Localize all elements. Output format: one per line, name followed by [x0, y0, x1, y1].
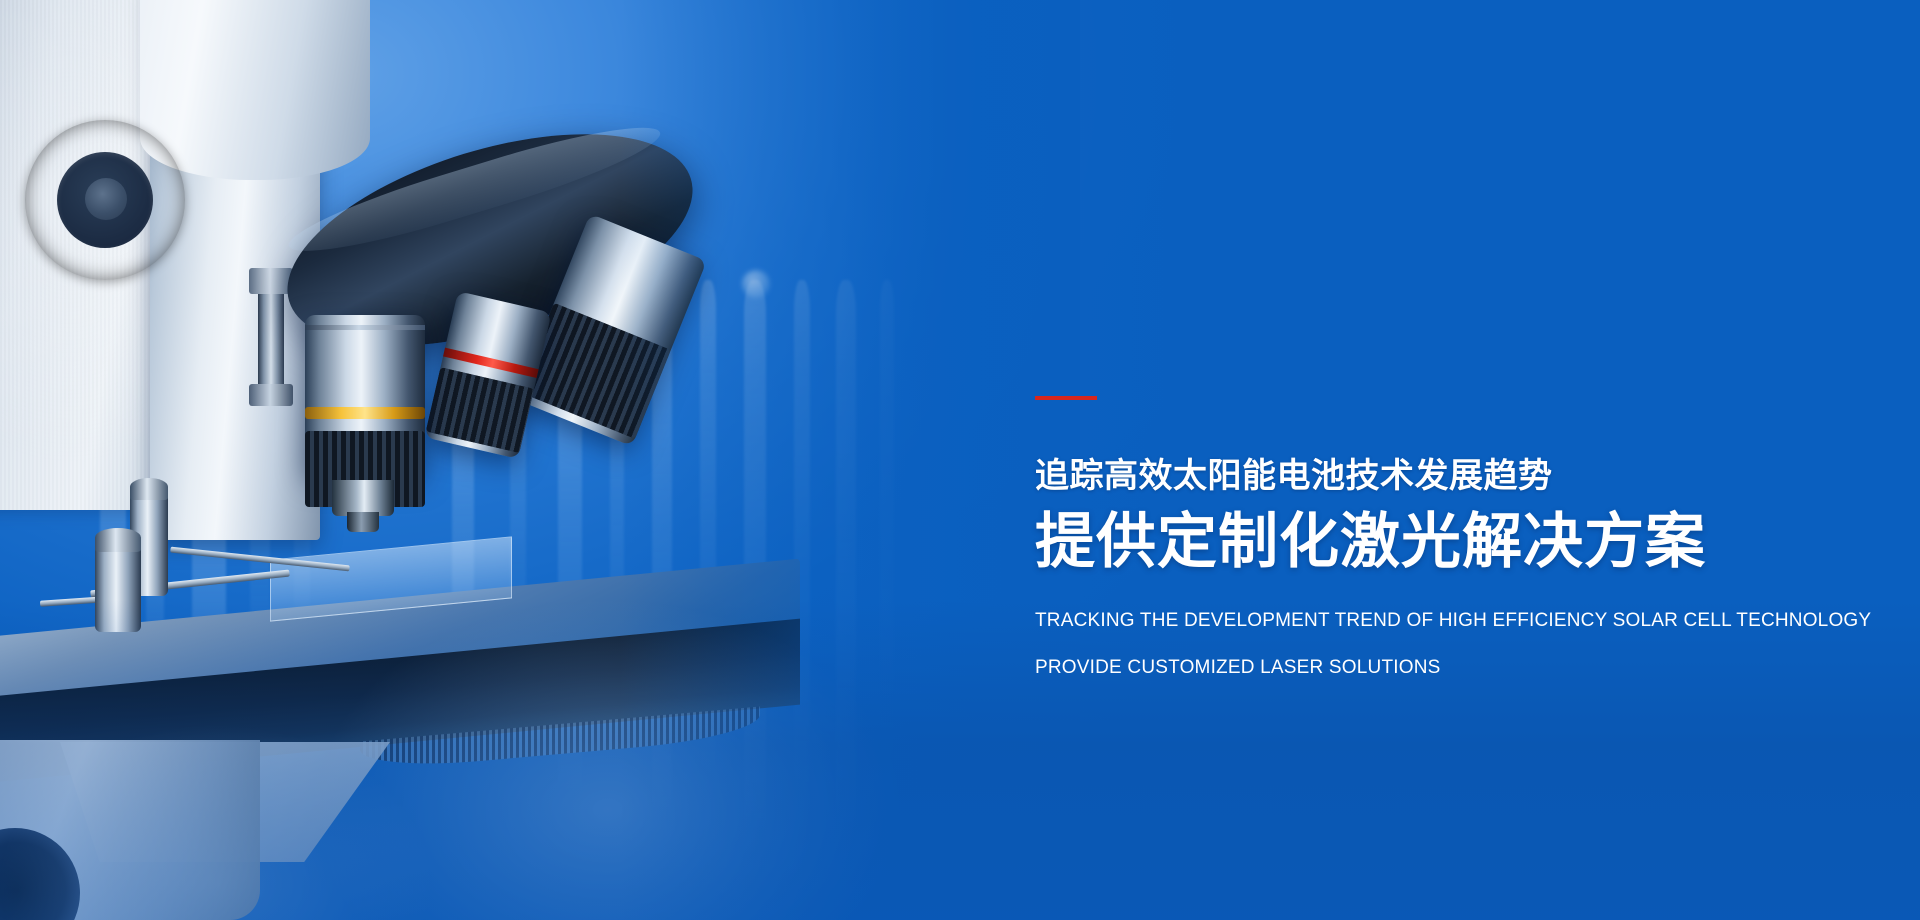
hero-banner: 追踪高效太阳能电池技术发展趋势 提供定制化激光解决方案 TRACKING THE… — [0, 0, 1920, 920]
stage-post-cap — [130, 478, 168, 500]
objective-front-lens — [347, 512, 379, 532]
fine-adjust-screw — [258, 290, 284, 390]
stage-post-cap — [95, 528, 141, 552]
english-subtitle-line-2: PROVIDE CUSTOMIZED LASER SOLUTIONS — [1035, 658, 1855, 677]
headline-title: 提供定制化激光解决方案 — [1035, 509, 1855, 575]
objective-lens-1 — [305, 315, 425, 475]
objective-gold-ring — [305, 407, 425, 419]
english-subtitle-line-1: TRACKING THE DEVELOPMENT TREND OF HIGH E… — [1035, 611, 1855, 630]
headline-subtitle: 追踪高效太阳能电池技术发展趋势 — [1035, 458, 1855, 495]
coarse-focus-dial — [25, 120, 185, 280]
objective-tip — [332, 480, 394, 516]
objective-metal-ring — [305, 325, 425, 330]
phillips-screw-icon — [97, 190, 117, 210]
light-streak-cap — [742, 270, 770, 298]
hero-text-block: 追踪高效太阳能电池技术发展趋势 提供定制化激光解决方案 TRACKING THE… — [1035, 396, 1855, 677]
accent-rule — [1035, 396, 1097, 400]
microscope-tube — [140, 0, 370, 180]
objective-knurl — [426, 367, 534, 453]
